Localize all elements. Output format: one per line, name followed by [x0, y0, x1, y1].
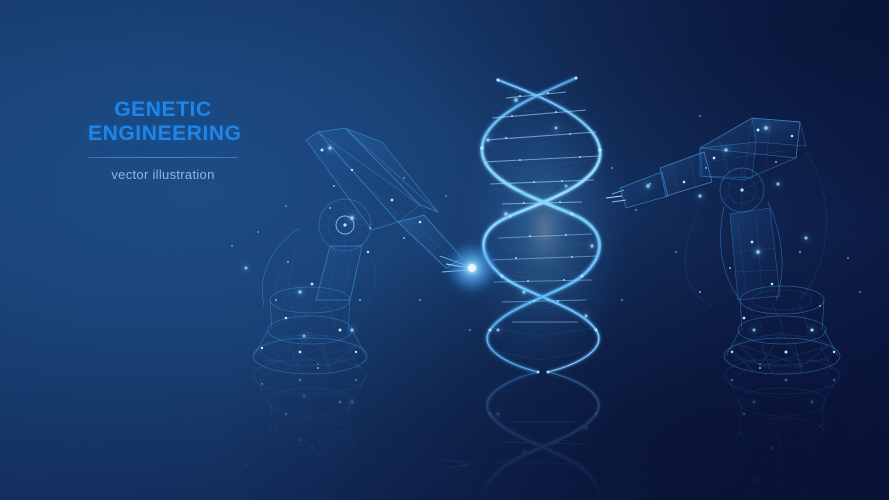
title-block: GENETIC ENGINEERING vector illustration [88, 98, 238, 182]
title-line-1: GENETIC [114, 98, 212, 121]
artwork-layer: .w { fill:none; stroke:#3c93de; stroke-o… [0, 0, 889, 500]
title-divider [88, 157, 238, 158]
subtitle: vector illustration [88, 167, 238, 182]
dna-reflection [480, 371, 602, 500]
illustration-canvas: .w { fill:none; stroke:#3c93de; stroke-o… [0, 0, 889, 500]
robot-arm-left-geometry [243, 128, 470, 374]
page-title: GENETIC ENGINEERING [88, 98, 238, 146]
title-line-2: ENGINEERING [88, 122, 242, 145]
robot-arm-right-geometry [606, 118, 840, 374]
